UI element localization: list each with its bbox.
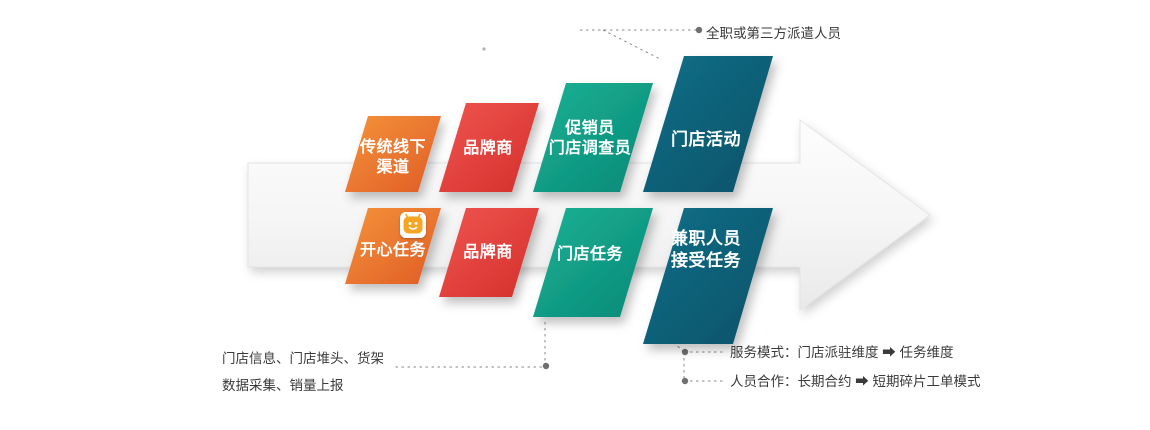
annotation-data-collection: 门店信息、门店堆头、货架 数据采集、销量上报 — [222, 345, 384, 399]
annotation-staffing: 全职或第三方派遣人员 — [706, 24, 841, 44]
happy-face-icon — [400, 212, 426, 238]
diagram-canvas — [0, 0, 1150, 430]
annotation-service-model: 服务模式：门店派驻维度 ➡ 任务维度 — [730, 343, 954, 363]
process-diagram: 传统线下 渠道 品牌商 促销员 门店调查员 门店活动 开心任务 品牌商 门店任务… — [0, 0, 1150, 430]
top-row-tiles — [345, 56, 773, 192]
annotation-personnel-cooperation: 人员合作：长期合约 ➡ 短期碎片工单模式 — [730, 372, 981, 392]
